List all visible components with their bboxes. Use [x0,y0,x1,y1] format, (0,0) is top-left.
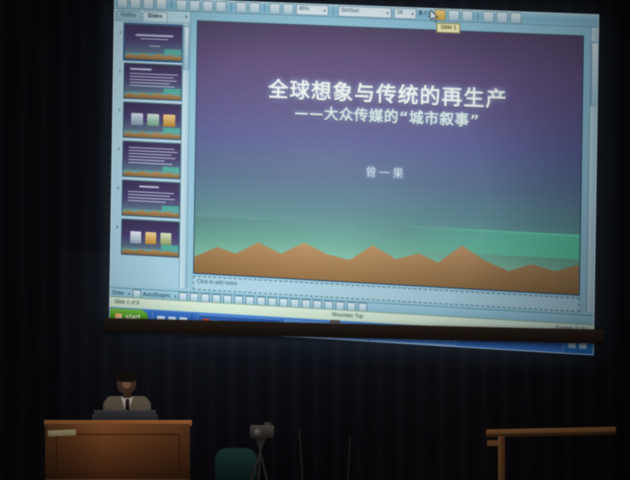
italic-button[interactable]: I [425,11,427,17]
slides-pane[interactable]: Outline Slides × 1 [109,9,191,288]
toolbar-separator-1 [171,0,172,9]
open-icon[interactable] [130,0,141,9]
current-slide[interactable]: 全球想象与传统的再生产 ——大众传媒的“城市叙事” 曾一果 [193,20,584,295]
tab-outline[interactable]: Outline [116,10,142,21]
align-right-icon[interactable] [461,10,473,22]
mouse-cursor-icon [430,10,439,23]
slide-thumbnail-list[interactable]: 1 2 [109,21,183,288]
toolbar-separator-2 [231,2,232,11]
bold-button[interactable]: B [419,11,423,17]
font-size-value: 18 [397,8,403,17]
video-camera-on-tripod [248,425,288,480]
chevron-down-icon[interactable]: ▾ [411,9,413,18]
list-item[interactable]: 6 [116,218,180,258]
insert-chart-icon[interactable] [282,3,293,15]
slide-editing-area[interactable]: 全球想象与传统的再生产 ——大众传媒的“城市叙事” 曾一果 Click to a… [187,12,592,312]
list-item[interactable]: 5 [117,179,181,218]
toolbar-separator-3 [264,3,265,12]
print-icon[interactable] [156,0,167,10]
font-name-value: SimSun [341,6,359,16]
chevron-down-icon[interactable]: ▾ [128,291,130,296]
font-name-combobox[interactable]: SimSun ▾ [338,5,392,18]
list-item[interactable]: 4 [117,140,181,179]
list-item[interactable]: 2 [118,62,182,101]
scrollbar-thumb[interactable] [183,26,190,70]
decrease-font-icon[interactable] [510,11,522,23]
chevron-down-icon[interactable]: ▾ [386,8,388,17]
list-item[interactable]: 3 [118,101,182,140]
copy-icon[interactable] [202,0,213,11]
new-icon[interactable] [117,0,128,8]
slide-thumbnail-5[interactable] [122,179,181,218]
slide-thumbnail-4[interactable] [122,140,181,179]
chevron-down-icon[interactable]: ▾ [174,294,176,299]
insert-table-icon[interactable] [269,2,280,14]
presenter-hair [115,370,138,382]
conference-room-photo: 45% ▾ SimSun ▾ 18 ▾ B I U [0,0,630,480]
scrollbar-thumb[interactable] [590,42,599,106]
spell-check-icon[interactable] [176,0,187,10]
increase-font-icon[interactable] [496,11,508,23]
chevron-down-icon[interactable]: ▾ [324,5,326,14]
tab-slides[interactable]: Slides [142,11,167,22]
list-item[interactable]: 1 [119,23,183,62]
slide-thumbnail-6[interactable] [121,219,180,258]
close-pane-icon[interactable]: × [184,14,188,23]
slide-thumbnail-2[interactable] [123,62,182,101]
cut-icon[interactable] [189,0,200,11]
zoom-value: 45% [299,4,309,14]
toolbar-separator-4 [333,6,334,15]
side-table-leg [498,436,505,480]
toolbar-separator-5 [477,11,478,20]
bullets-icon[interactable] [482,10,494,22]
align-center-icon[interactable] [448,9,460,21]
font-size-combobox[interactable]: 18 ▾ [394,7,417,19]
cursor-tooltip: Slide 1 [436,22,461,33]
slide-thumbnail-3[interactable] [123,101,182,140]
undo-icon[interactable] [236,1,247,13]
projection-screen: 45% ▾ SimSun ▾ 18 ▾ B I U [109,0,599,355]
slide-author-text: 曾一果 [196,155,581,190]
powerpoint-window: 45% ▾ SimSun ▾ 18 ▾ B I U [109,0,599,355]
projection-screen-surface: 45% ▾ SimSun ▾ 18 ▾ B I U [109,0,599,355]
redo-icon[interactable] [249,2,260,14]
paste-icon[interactable] [215,0,226,12]
slide-thumbnail-1[interactable] [124,23,183,61]
camera-lens [254,428,262,436]
papers-on-podium [48,430,76,437]
zoom-combobox[interactable]: 45% ▾ [296,3,329,15]
save-icon[interactable] [143,0,154,9]
screen-frame-knob [330,320,340,324]
